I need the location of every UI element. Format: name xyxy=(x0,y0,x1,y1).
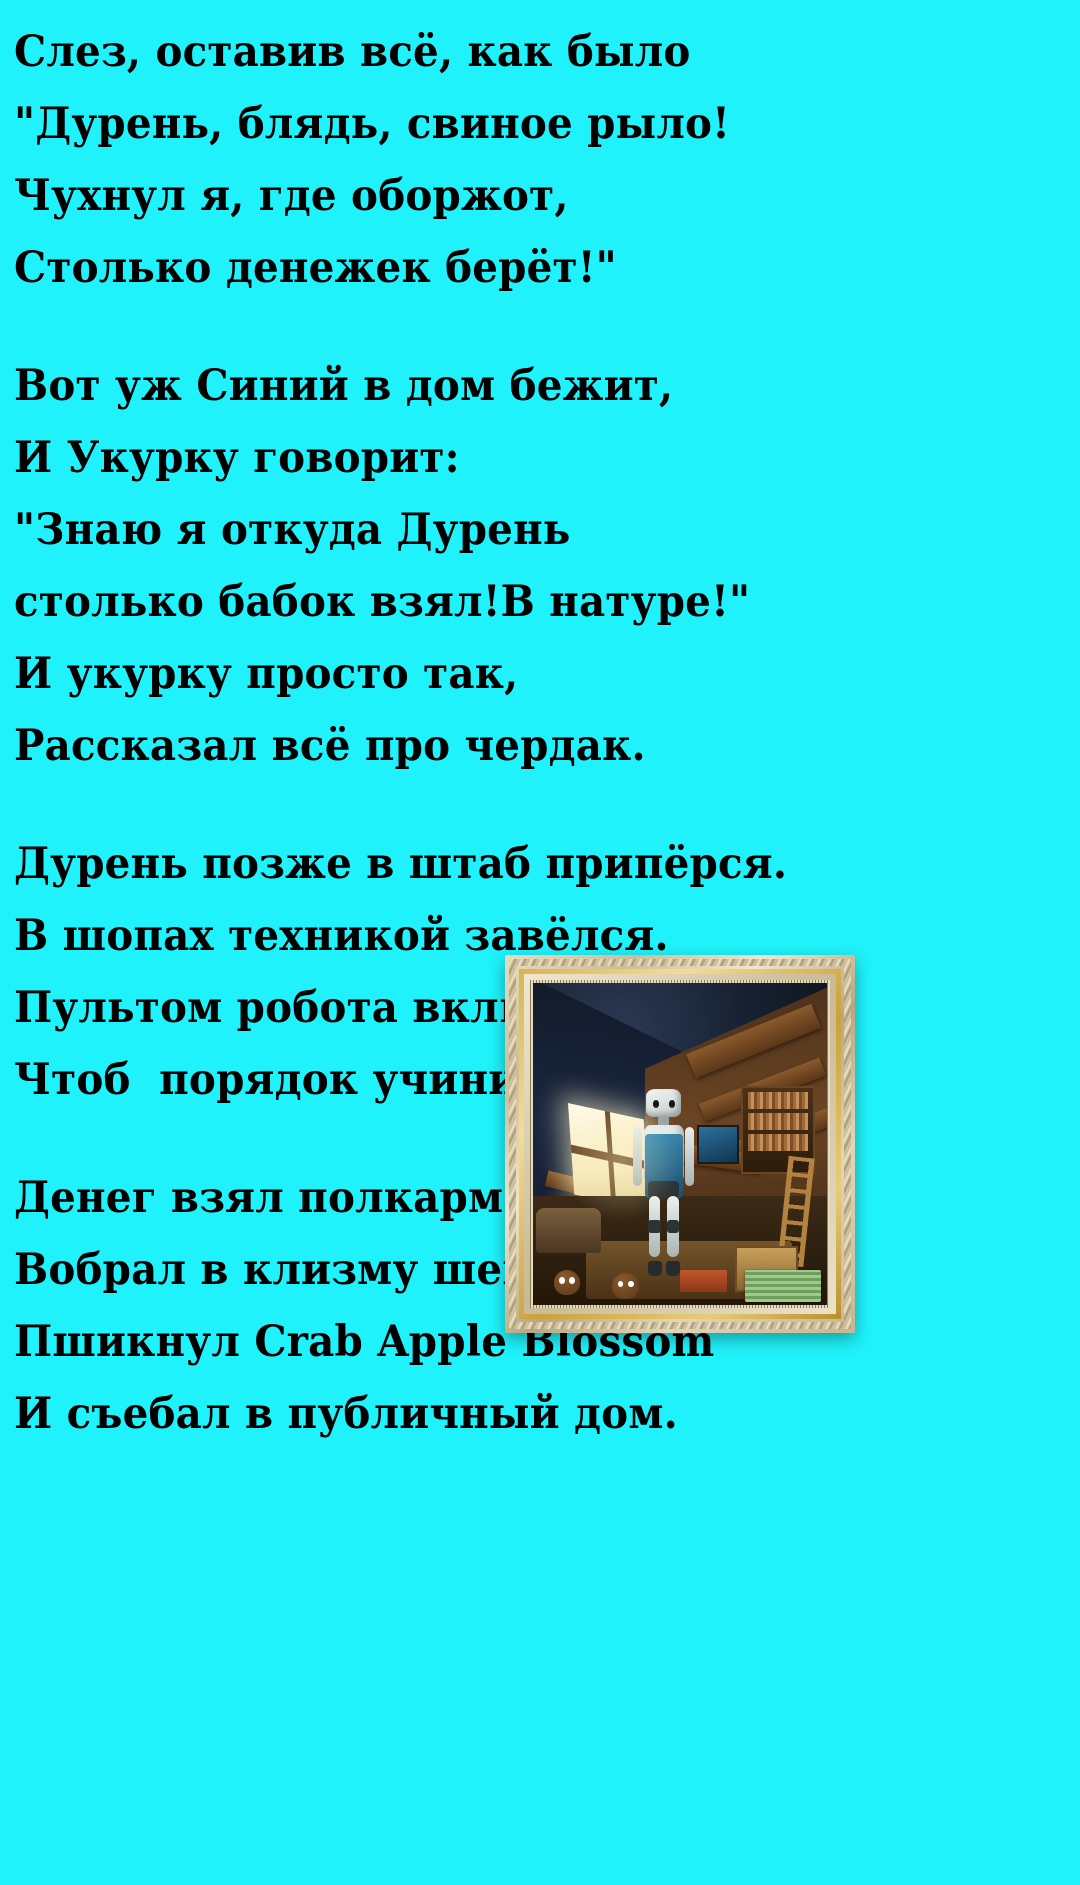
money-stack xyxy=(745,1270,821,1302)
robot-foot-left xyxy=(648,1261,662,1276)
poem-line: Дурень позже в штаб припёрся. xyxy=(14,828,1001,900)
page-root: Слез, оставив всё, как было "Дурень, бля… xyxy=(0,0,1080,1885)
robot-eye-left xyxy=(653,1100,659,1107)
picture-matte xyxy=(533,983,827,1305)
stanza-2: Вот уж Синий в дом бежит, И Укурку говор… xyxy=(14,350,1064,782)
poem-line: Вот уж Синий в дом бежит, xyxy=(14,350,1001,422)
poem-line: Чухнул я, где оборжот, xyxy=(14,160,1001,232)
poem-line: "Дурень, блядь, свиное рыло! xyxy=(14,88,1001,160)
robot-neck xyxy=(658,1117,669,1124)
robot-knee-right xyxy=(667,1220,680,1233)
humanoid-robot xyxy=(630,1089,698,1276)
framed-picture xyxy=(505,955,855,1333)
poem-line: Слез, оставив всё, как было xyxy=(14,16,1001,88)
sofa xyxy=(536,1208,601,1253)
robot-eye-right xyxy=(669,1100,675,1107)
book-row xyxy=(748,1134,807,1151)
artwork-attic-robot-scene xyxy=(533,983,827,1305)
stanza-gap xyxy=(14,782,1064,828)
poem-line: И Укурку говорит: xyxy=(14,422,1001,494)
poem-line: И съебал в публичный дом. xyxy=(14,1378,1001,1450)
robot-arm-right xyxy=(685,1127,694,1187)
book-row xyxy=(748,1092,807,1109)
poop-character-icon xyxy=(554,1270,580,1296)
robot-foot-right xyxy=(666,1261,680,1276)
robot-knee-left xyxy=(648,1220,661,1233)
poem-line: столько бабок взял!В натуре!" xyxy=(14,566,1001,638)
poem-line: Рассказал всё про чердак. xyxy=(14,710,1001,782)
robot-arm-left xyxy=(633,1127,642,1187)
stanza-1: Слез, оставив всё, как было "Дурень, бля… xyxy=(14,16,1064,304)
monitor-screen xyxy=(697,1125,739,1164)
poem-line: И укурку просто так, xyxy=(14,638,1001,710)
poem-line: "Знаю я откуда Дурень xyxy=(14,494,1001,566)
book-row xyxy=(748,1113,807,1130)
poem-line: Столько денежек берёт!" xyxy=(14,232,1001,304)
poop-character-icon xyxy=(612,1273,638,1299)
robot-head xyxy=(646,1089,681,1117)
stanza-gap xyxy=(14,304,1064,350)
